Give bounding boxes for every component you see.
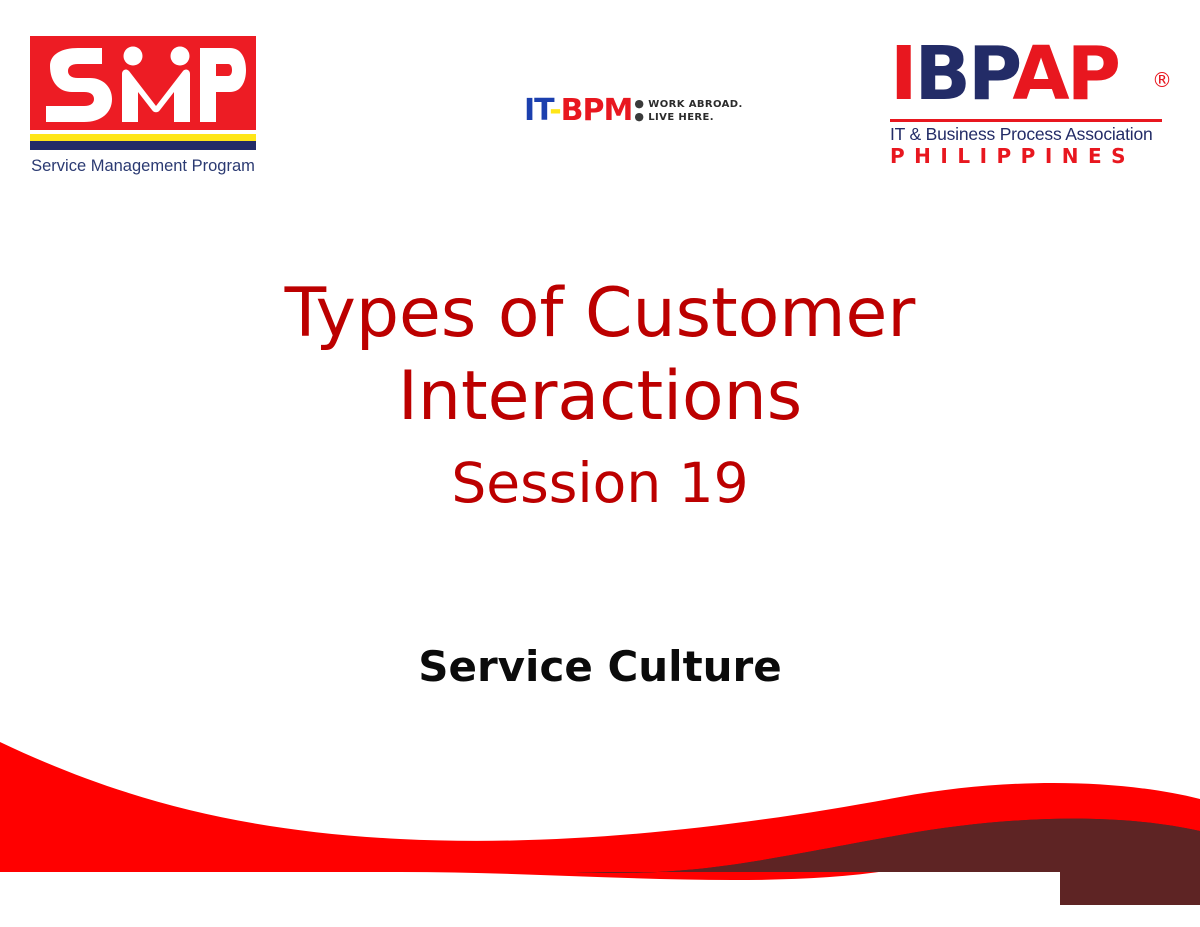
ibpap-letter-b: B bbox=[915, 31, 968, 117]
it-bpm-tagline: ● WORK ABROAD. ● LIVE HERE. bbox=[634, 98, 742, 124]
it-bpm-logo: IT-BPM ● WORK ABROAD. ● LIVE HERE. bbox=[524, 96, 743, 126]
it-bpm-it-text: IT bbox=[524, 93, 549, 128]
ibpap-divider bbox=[890, 119, 1162, 122]
smp-navy-bar bbox=[30, 141, 256, 150]
bottom-wave-decoration bbox=[0, 727, 1200, 927]
smp-caption: Service Management Program bbox=[30, 157, 256, 176]
ibpap-letter-p2: P bbox=[1067, 31, 1118, 117]
bullet-icon: ● bbox=[634, 97, 644, 110]
ibpap-country: PHILIPPINES bbox=[890, 145, 1170, 168]
smp-logo-mark bbox=[30, 36, 256, 130]
ibpap-subtitle: IT & Business Process Association bbox=[890, 124, 1170, 145]
ibpap-wordmark: IBPAP® bbox=[890, 30, 1170, 118]
title-block: Types of Customer Interactions Session 1… bbox=[0, 272, 1200, 522]
ibpap-letter-a: A bbox=[1012, 31, 1066, 117]
bullet-icon: ● bbox=[634, 110, 644, 123]
smp-wordmark bbox=[30, 36, 256, 130]
it-bpm-tagline-line1-text: WORK ABROAD. bbox=[648, 99, 742, 110]
slide-subtitle: Service Culture bbox=[0, 641, 1200, 693]
it-bpm-tagline-line2: ● LIVE HERE. bbox=[634, 111, 742, 124]
slide-session-label: Session 19 bbox=[0, 438, 1200, 522]
it-bpm-dash: - bbox=[549, 93, 560, 128]
it-bpm-tagline-line2-text: LIVE HERE. bbox=[648, 112, 714, 123]
it-bpm-bpm-text: BPM bbox=[561, 93, 633, 128]
ibpap-letter-p1: P bbox=[968, 31, 1012, 117]
ibpap-letter-i: I bbox=[890, 31, 915, 117]
smp-yellow-bar bbox=[30, 134, 256, 141]
slide-root: Service Management Program IT-BPM ● WORK… bbox=[0, 0, 1200, 927]
it-bpm-tagline-line1: ● WORK ABROAD. bbox=[634, 98, 742, 111]
slide-title-line1: Types of Customer bbox=[0, 272, 1200, 355]
slide-title-line2: Interactions bbox=[0, 355, 1200, 438]
logo-bar: Service Management Program IT-BPM ● WORK… bbox=[0, 0, 1200, 185]
it-bpm-wordmark: IT-BPM bbox=[524, 96, 632, 126]
registered-trademark-icon: ® bbox=[1152, 36, 1172, 124]
smp-logo: Service Management Program bbox=[30, 36, 256, 176]
ibpap-logo: IBPAP® IT & Business Process Association… bbox=[890, 30, 1170, 168]
